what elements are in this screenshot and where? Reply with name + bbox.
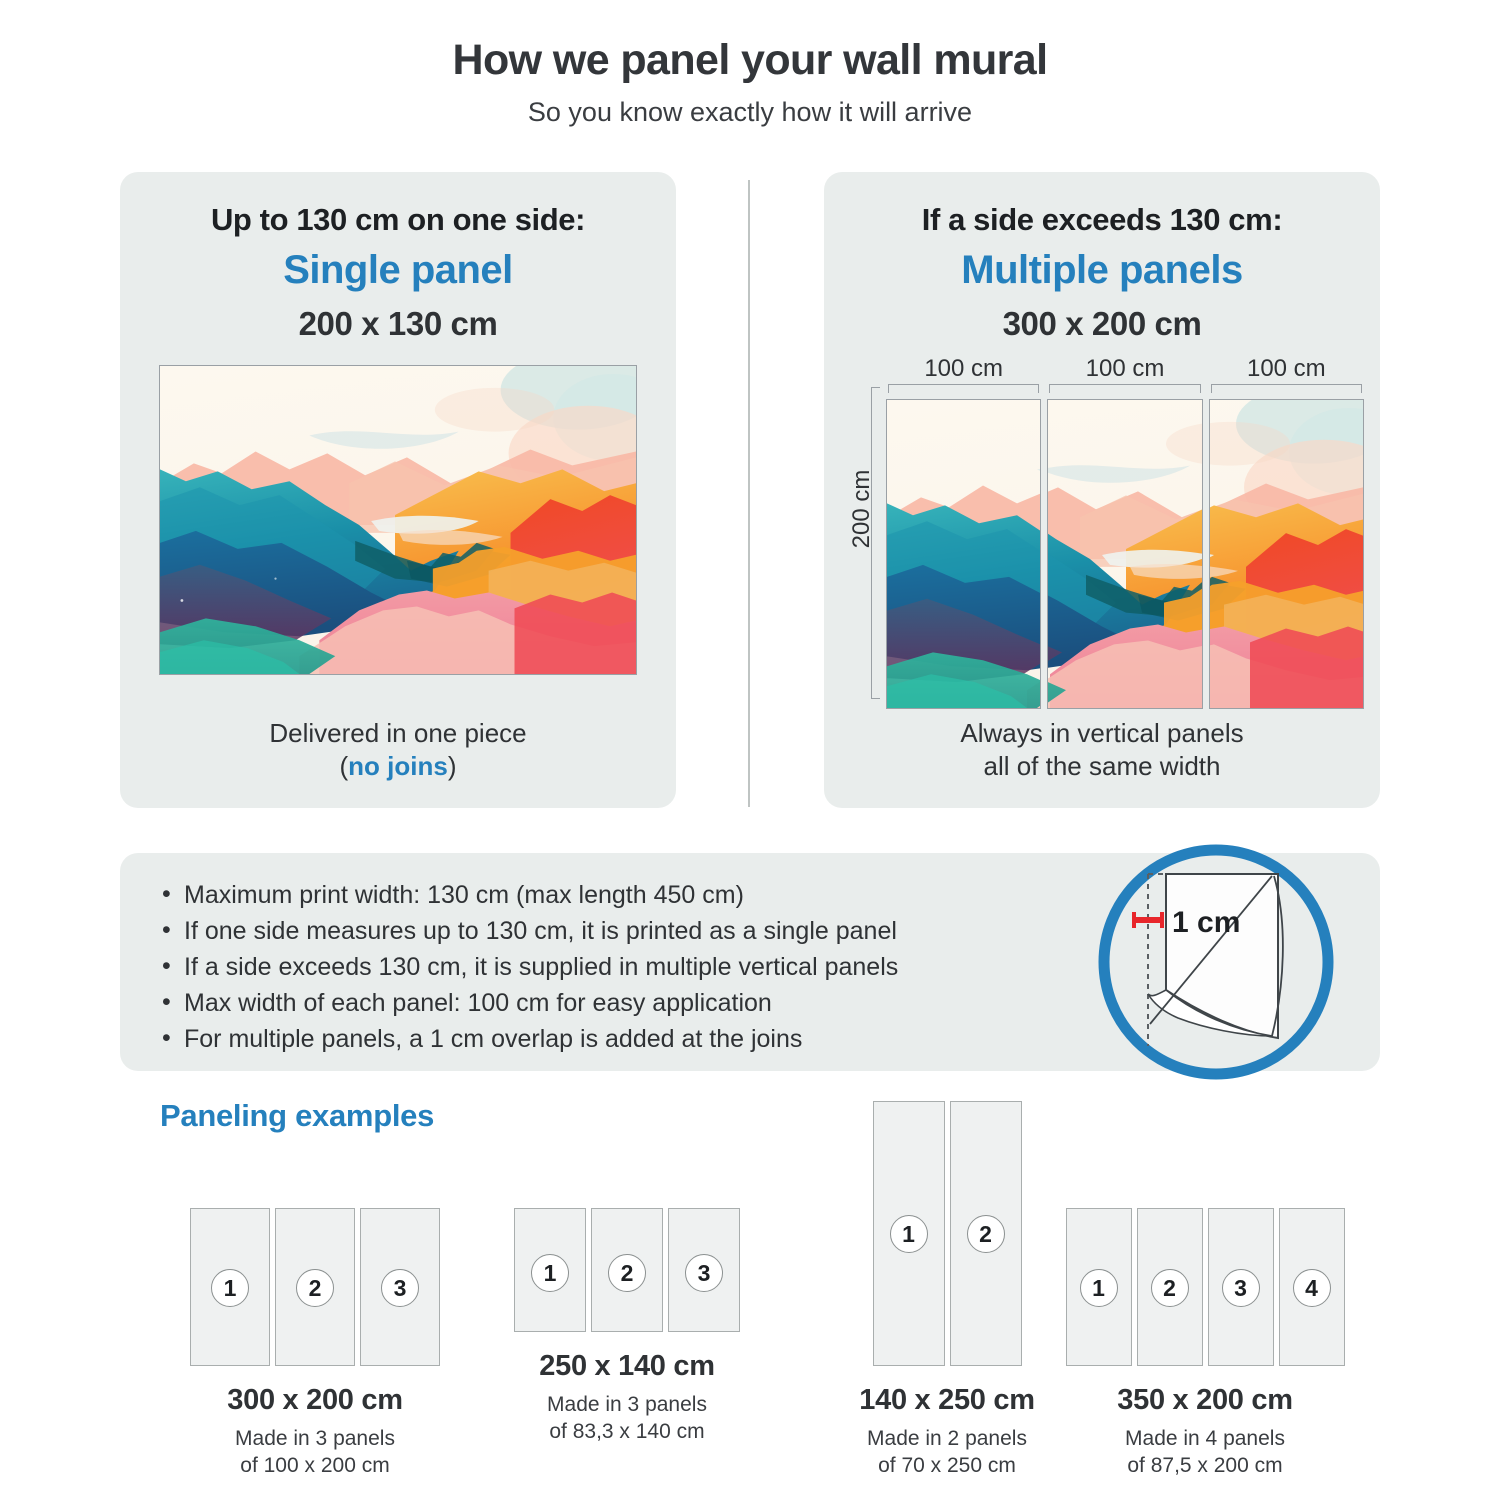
single-caption-highlight: no joins xyxy=(348,751,448,781)
example-made-line1: Made in 3 panels xyxy=(547,1393,707,1416)
example-panel: 3 xyxy=(668,1208,740,1332)
cards-divider xyxy=(748,180,750,807)
example-made-text: Made in 3 panels of 100 x 200 cm xyxy=(160,1425,470,1480)
example-panel: 2 xyxy=(591,1208,663,1332)
panel-width-cell: 100 cm xyxy=(1209,355,1364,393)
specifications-list: Maximum print width: 130 cm (max length … xyxy=(158,877,898,1057)
panel-number-badge: 1 xyxy=(1080,1269,1118,1307)
example-panel: 3 xyxy=(360,1208,440,1366)
artwork-panel-1 xyxy=(886,399,1041,709)
example-300x200: 1 2 3 300 x 200 cm Made in 3 panels of 1… xyxy=(160,1208,470,1480)
paneling-examples: 1 2 3 300 x 200 cm Made in 3 panels of 1… xyxy=(120,1125,1380,1465)
example-made-line1: Made in 3 panels xyxy=(235,1427,395,1450)
example-250x140: 1 2 3 250 x 140 cm Made in 3 panels of 8… xyxy=(472,1208,782,1446)
panel-height-label: 200 cm xyxy=(848,439,876,579)
width-caliper-bracket-1 xyxy=(888,384,1039,393)
single-caption-paren-open: ( xyxy=(339,751,348,781)
panel-width-cell: 100 cm xyxy=(886,355,1041,393)
panel-number-badge: 2 xyxy=(967,1215,1005,1253)
panel-width-cell: 100 cm xyxy=(1047,355,1202,393)
example-made-line2: of 100 x 200 cm xyxy=(240,1454,389,1477)
panel-height-dimension: 200 cm xyxy=(840,387,880,699)
single-size-label: 200 x 130 cm xyxy=(299,305,498,343)
mural-artwork-three-panels xyxy=(886,399,1364,709)
card-multiple-panels: If a side exceeds 130 cm: Multiple panel… xyxy=(824,172,1380,808)
overlap-detail-badge: 1 cm xyxy=(1092,838,1340,1086)
panel-width-label-3: 100 cm xyxy=(1247,355,1326,382)
single-condition-label: Up to 130 cm on one side: xyxy=(211,202,585,238)
watercolor-mountains-image xyxy=(1209,400,1364,708)
panel-number-badge: 1 xyxy=(531,1254,569,1292)
panel-number-badge: 4 xyxy=(1293,1269,1331,1307)
watercolor-mountains-image xyxy=(160,366,636,674)
example-size-label: 350 x 200 cm xyxy=(1050,1384,1360,1417)
example-made-text: Made in 3 panels of 83,3 x 140 cm xyxy=(472,1391,782,1446)
single-caption-paren-close: ) xyxy=(448,751,457,781)
watercolor-mountains-image xyxy=(887,400,1041,708)
list-item: Maximum print width: 130 cm (max length … xyxy=(158,877,898,913)
list-item: If a side exceeds 130 cm, it is supplied… xyxy=(158,949,898,985)
example-made-line2: of 83,3 x 140 cm xyxy=(549,1420,704,1443)
example-panel: 3 xyxy=(1208,1208,1274,1366)
panel-number-badge: 3 xyxy=(1222,1269,1260,1307)
example-size-label: 250 x 140 cm xyxy=(472,1350,782,1383)
example-made-line2: of 87,5 x 200 cm xyxy=(1127,1454,1282,1477)
panel-number-badge: 3 xyxy=(685,1254,723,1292)
single-kind-label: Single panel xyxy=(283,248,513,293)
multiple-caption-line1: Always in vertical panels xyxy=(960,718,1243,748)
panel-number-badge: 2 xyxy=(608,1254,646,1292)
example-panel: 4 xyxy=(1279,1208,1345,1366)
example-panel: 1 xyxy=(190,1208,270,1366)
panel-number-badge: 2 xyxy=(296,1269,334,1307)
example-panel: 2 xyxy=(1137,1208,1203,1366)
comparison-cards: Up to 130 cm on one side: Single panel 2… xyxy=(120,172,1380,808)
example-panel: 2 xyxy=(950,1101,1022,1366)
example-panel-group: 1 2 3 4 xyxy=(1050,1208,1360,1366)
list-item: Max width of each panel: 100 cm for easy… xyxy=(158,985,898,1021)
multiple-kind-label: Multiple panels xyxy=(961,248,1242,293)
example-panel: 1 xyxy=(514,1208,586,1332)
example-size-label: 300 x 200 cm xyxy=(160,1384,470,1417)
panel-number-badge: 1 xyxy=(211,1269,249,1307)
list-item: For multiple panels, a 1 cm overlap is a… xyxy=(158,1021,898,1057)
example-made-line1: Made in 4 panels xyxy=(1125,1427,1285,1450)
page-subtitle: So you know exactly how it will arrive xyxy=(0,97,1500,128)
example-made-line2: of 70 x 250 cm xyxy=(878,1454,1016,1477)
example-panel: 1 xyxy=(1066,1208,1132,1366)
panel-width-label-1: 100 cm xyxy=(924,355,1003,382)
page-header: How we panel your wall mural So you know… xyxy=(0,0,1500,128)
overlap-label: 1 cm xyxy=(1172,906,1240,939)
example-panel: 1 xyxy=(873,1101,945,1366)
multiple-caption-line2: all of the same width xyxy=(983,751,1220,781)
watercolor-mountains-image xyxy=(1047,400,1202,708)
multiple-condition-label: If a side exceeds 130 cm: xyxy=(922,202,1283,238)
mural-artwork-single xyxy=(159,365,637,675)
example-made-line1: Made in 2 panels xyxy=(867,1427,1027,1450)
example-panel: 2 xyxy=(275,1208,355,1366)
panel-width-dimensions: 100 cm 100 cm 100 cm xyxy=(886,355,1364,393)
artwork-panel-3 xyxy=(1209,399,1364,709)
page-title: How we panel your wall mural xyxy=(0,36,1500,85)
example-350x200: 1 2 3 4 350 x 200 cm Made in 4 panels of… xyxy=(1050,1208,1360,1480)
multiple-panels-caption: Always in vertical panels all of the sam… xyxy=(960,717,1243,788)
card-single-panel: Up to 130 cm on one side: Single panel 2… xyxy=(120,172,676,808)
panel-width-label-2: 100 cm xyxy=(1086,355,1165,382)
panel-number-badge: 3 xyxy=(381,1269,419,1307)
panel-number-badge: 1 xyxy=(890,1215,928,1253)
single-caption-lead: Delivered in one piece xyxy=(269,718,526,748)
single-panel-caption: Delivered in one piece (no joins) xyxy=(269,717,526,788)
multiple-panels-diagram: 200 cm 100 cm 100 cm 100 cm xyxy=(840,343,1364,709)
example-panel-group: 1 2 3 xyxy=(160,1208,470,1366)
artwork-panel-2 xyxy=(1047,399,1202,709)
example-made-text: Made in 4 panels of 87,5 x 200 cm xyxy=(1050,1425,1360,1480)
list-item: If one side measures up to 130 cm, it is… xyxy=(158,913,898,949)
panel-number-badge: 2 xyxy=(1151,1269,1189,1307)
example-panel-group: 1 2 3 xyxy=(472,1208,782,1332)
width-caliper-bracket-2 xyxy=(1049,384,1200,393)
multiple-size-label: 300 x 200 cm xyxy=(1003,305,1202,343)
width-caliper-bracket-3 xyxy=(1211,384,1362,393)
